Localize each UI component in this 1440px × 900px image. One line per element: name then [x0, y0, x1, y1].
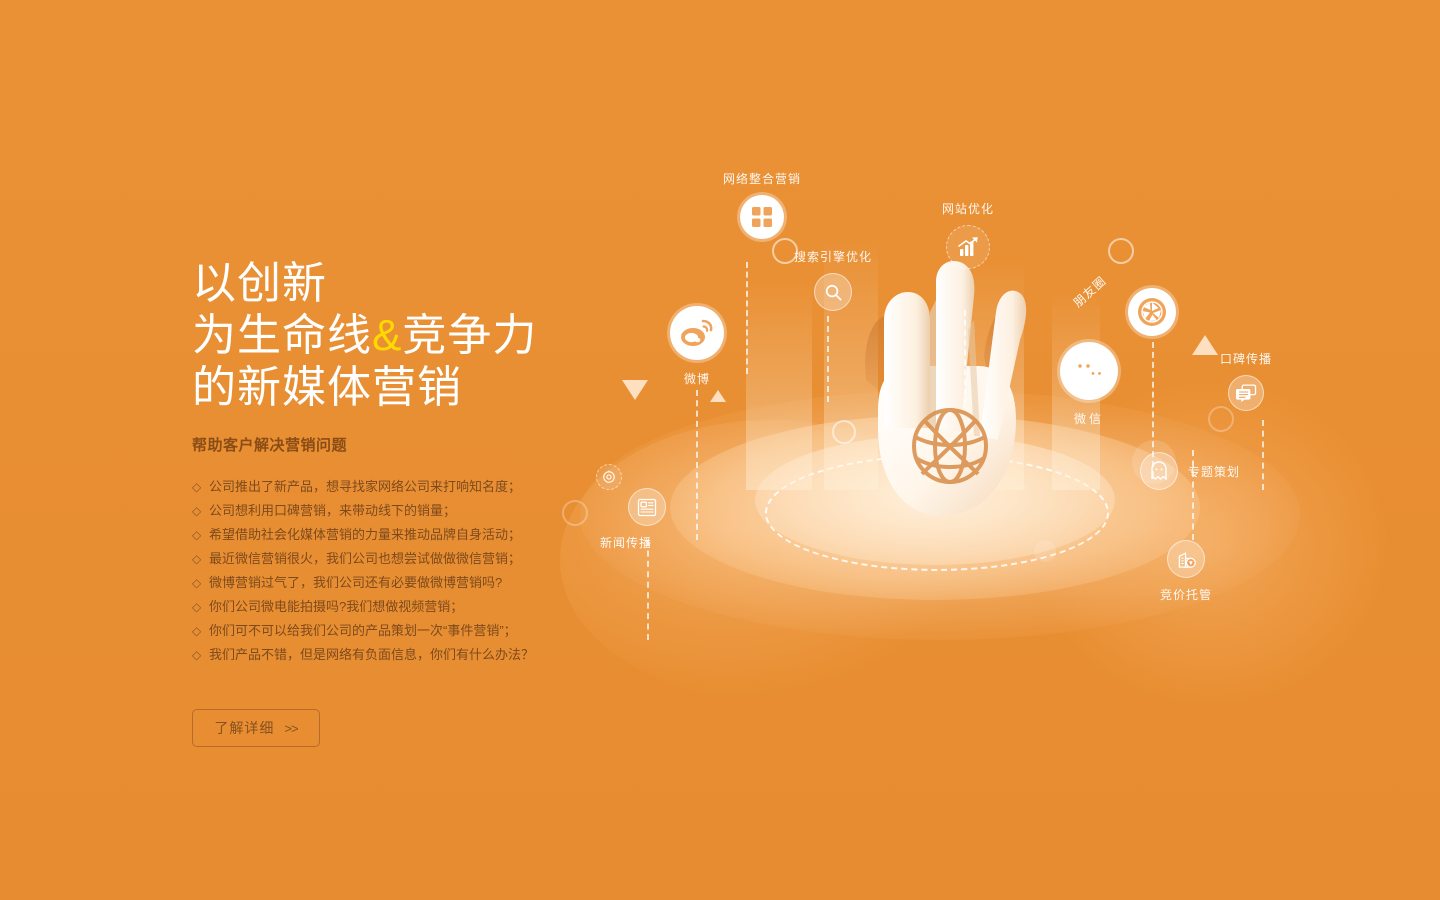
weibo-icon [670, 306, 724, 360]
node-label: 微博 [684, 370, 710, 387]
list-item-text: 公司推出了新产品，想寻找家网络公司来打响知名度； [209, 475, 521, 499]
list-item-text: 最近微信营销很火，我们公司也想尝试做做微信营销； [209, 547, 521, 571]
list-item-text: 我们产品不错，但是网络有负面信息，你们有什么办法？ [209, 643, 534, 667]
node-stem [964, 310, 966, 405]
node-stem [827, 316, 829, 402]
pain-point-list: ◇公司推出了新产品，想寻找家网络公司来打响知名度； ◇公司想利用口碑营销，来带动… [192, 475, 612, 667]
list-item: ◇我们产品不错，但是网络有负面信息，你们有什么办法？ [192, 643, 612, 667]
diamond-icon: ◇ [192, 499, 209, 523]
diamond-icon: ◇ [192, 595, 209, 619]
node-label-moments: 朋友圈 [1069, 272, 1109, 311]
diamond-icon: ◇ [192, 523, 209, 547]
headline-ampersand: & [372, 311, 402, 360]
list-item: ◇希望借助社会化媒体营销的力量来推动品牌自身活动； [192, 523, 612, 547]
target-icon [596, 464, 622, 490]
node-stem [746, 262, 748, 374]
node-label: 微信 [1074, 410, 1104, 427]
node-site-optimization[interactable]: 网站优化 [942, 200, 994, 269]
node-bidding-hosting[interactable]: 竞价托管 [1160, 540, 1212, 603]
bar-chart-arrow-icon [946, 225, 990, 269]
triangle-up-icon [1192, 335, 1218, 355]
decorative-dot [1034, 540, 1056, 562]
node-label: 口碑传播 [1220, 350, 1272, 367]
diamond-icon: ◇ [192, 619, 209, 643]
node-wechat[interactable]: 微信 [1060, 342, 1118, 427]
node-label: 新闻传播 [600, 534, 652, 551]
node-stem [647, 540, 649, 640]
list-item: ◇公司想利用口碑营销，来带动线下的销量； [192, 499, 612, 523]
decorative-ring [832, 420, 856, 444]
learn-more-label: 了解详细 [214, 718, 274, 738]
node-topic-planning[interactable]: 专题策划 [1140, 452, 1240, 490]
light-shaft [746, 280, 812, 490]
node-label: 网站优化 [942, 200, 994, 217]
building-chart-icon [1167, 540, 1205, 578]
node-stem [1262, 420, 1264, 490]
list-item: ◇你们公司微电能拍摄吗?我们想做视频营销； [192, 595, 612, 619]
triangle-up-icon [710, 390, 726, 402]
decorative-ring [1108, 238, 1134, 264]
triangle-down-icon [622, 380, 648, 400]
page-title: 以创新 为生命线&竞争力 的新媒体营销 [192, 258, 612, 414]
magnifier-icon [814, 273, 852, 311]
node-word-of-mouth[interactable]: 口碑传播 [1220, 350, 1272, 411]
headline-line-2: 为生命线&竞争力 [192, 310, 612, 362]
headline-line-2-part-a: 为生命线 [192, 311, 372, 360]
list-item: ◇微博营销过气了，我们公司还有必要做微博营销吗? [192, 571, 612, 595]
list-item: ◇你们可不可以给我们公司的产品策划一次“事件营销”； [192, 619, 612, 643]
hero-banner: 以创新 为生命线&竞争力 的新媒体营销 帮助客户解决营销问题 ◇公司推出了新产品… [0, 0, 1440, 900]
list-item-text: 希望借助社会化媒体营销的力量来推动品牌自身活动； [209, 523, 521, 547]
list-item-text: 公司想利用口碑营销，来带动线下的销量； [209, 499, 456, 523]
diamond-icon: ◇ [192, 643, 209, 667]
list-item-text: 你们公司微电能拍摄吗?我们想做视频营销； [209, 595, 463, 619]
hero-copy: 以创新 为生命线&竞争力 的新媒体营销 帮助客户解决营销问题 ◇公司推出了新产品… [192, 258, 612, 747]
node-label: 竞价托管 [1160, 586, 1212, 603]
node-integrated-marketing[interactable]: 网络整合营销 [723, 170, 801, 239]
chat-bubbles-icon [1228, 375, 1264, 411]
node-moments[interactable] [1128, 288, 1176, 336]
node-label: 网络整合营销 [723, 170, 801, 187]
marketing-illustration: 网络整合营销 搜索引擎优化 网站 [560, 120, 1360, 680]
node-label: 专题策划 [1188, 463, 1240, 480]
headline-line-1: 以创新 [192, 258, 612, 310]
ghost-icon [1140, 452, 1178, 490]
headline-line-3: 的新媒体营销 [192, 362, 612, 414]
learn-more-button[interactable]: 了解详细 >> [192, 709, 320, 747]
wechat-icon [1060, 342, 1118, 400]
newspaper-icon [628, 488, 666, 526]
list-item: ◇最近微信营销很火，我们公司也想尝试做做微信营销； [192, 547, 612, 571]
list-item: ◇公司推出了新产品，想寻找家网络公司来打响知名度； [192, 475, 612, 499]
aperture-icon [1128, 288, 1176, 336]
node-seo[interactable]: 搜索引擎优化 [794, 248, 872, 311]
chevron-right-icon: >> [284, 721, 297, 736]
list-item-text: 你们可不可以给我们公司的产品策划一次“事件营销”； [209, 619, 517, 643]
hero-subtitle: 帮助客户解决营销问题 [192, 434, 612, 455]
node-stem [1192, 450, 1194, 540]
diamond-icon: ◇ [192, 475, 209, 499]
grid-squares-icon [740, 195, 784, 239]
decorative-ring [562, 500, 588, 526]
node-label: 搜索引擎优化 [794, 248, 872, 265]
diamond-icon: ◇ [192, 571, 209, 595]
headline-line-2-part-b: 竞争力 [402, 311, 537, 360]
list-item-text: 微博营销过气了，我们公司还有必要做微博营销吗? [209, 571, 502, 595]
node-stem [696, 390, 698, 540]
node-weibo[interactable]: 微博 [670, 306, 724, 387]
diamond-icon: ◇ [192, 547, 209, 571]
